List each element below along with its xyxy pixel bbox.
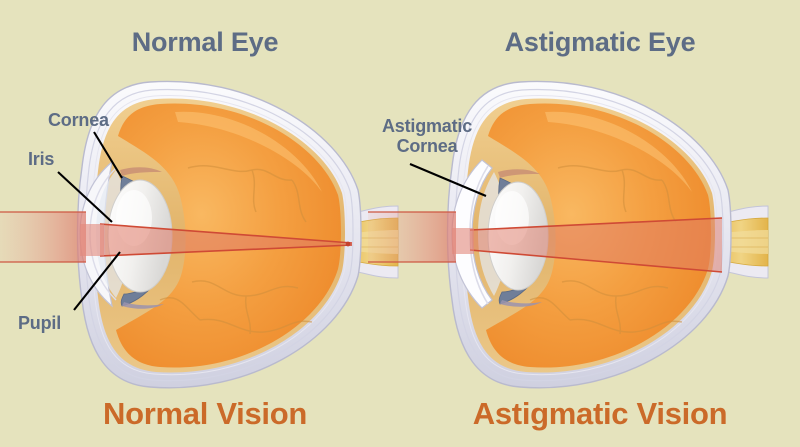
diagram-canvas: Normal Eye Astigmatic Eye Cornea Iris Pu… xyxy=(0,0,800,447)
label-iris: Iris xyxy=(28,149,54,170)
label-astigmatic-cornea-line2: Cornea xyxy=(368,136,486,156)
eye-comparison-illustration xyxy=(0,0,800,447)
panel-title-astigmatic-eye: Astigmatic Eye xyxy=(470,27,730,58)
incoming-light-left xyxy=(0,212,86,262)
incoming-light-right xyxy=(368,212,456,262)
vision-label-normal: Normal Vision xyxy=(55,396,355,432)
light-through-lens-right xyxy=(452,228,474,254)
label-cornea: Cornea xyxy=(48,110,109,131)
light-through-lens-left xyxy=(80,224,104,256)
vision-label-astigmatic: Astigmatic Vision xyxy=(425,396,775,432)
label-astigmatic-cornea-line1: Astigmatic xyxy=(368,116,486,136)
label-astigmatic-cornea: Astigmatic Cornea xyxy=(368,116,486,156)
label-pupil: Pupil xyxy=(18,313,61,334)
panel-title-normal-eye: Normal Eye xyxy=(80,27,330,58)
